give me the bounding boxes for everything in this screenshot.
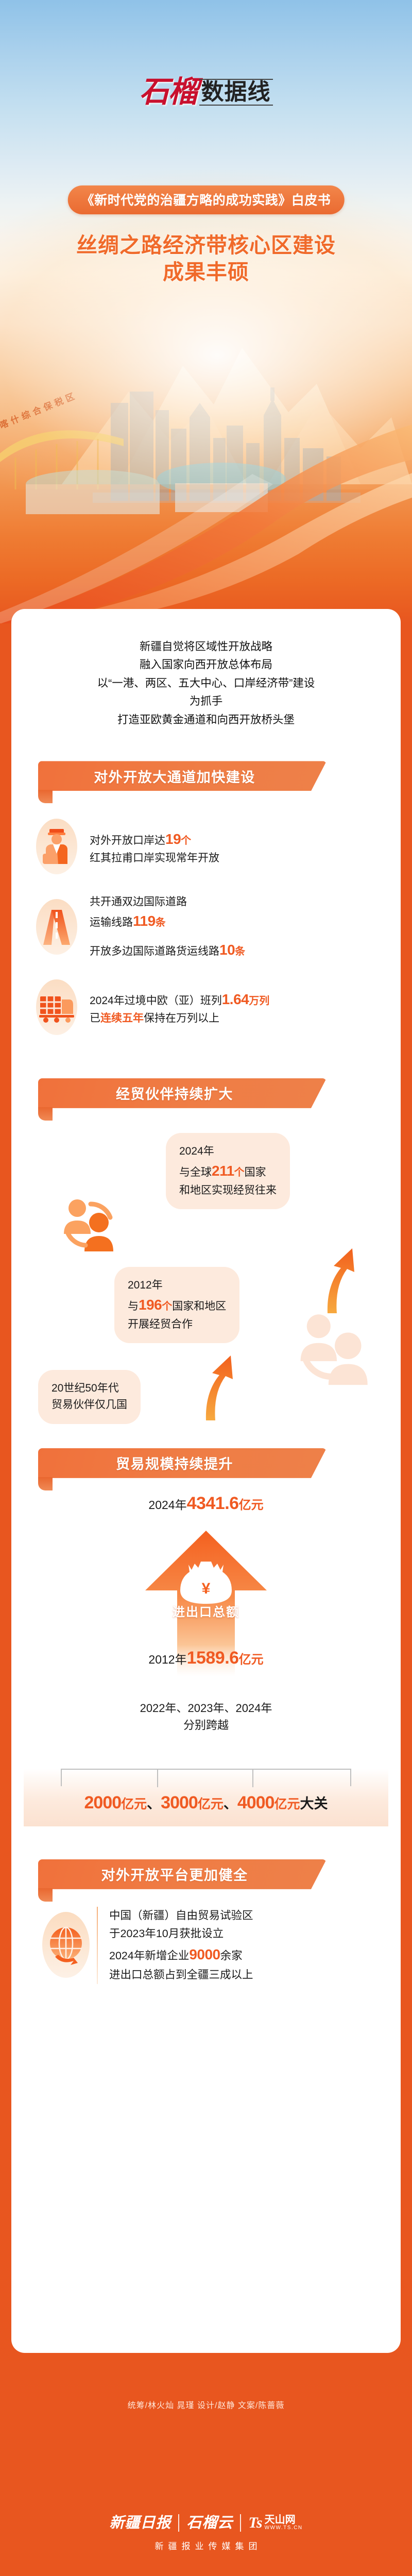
xinjiang-daily-logo: 新疆日报 [109, 2516, 171, 2531]
page-title-line1: 丝绸之路经济带核心区建设 [76, 233, 336, 257]
bubble-2024-unit: 个 [234, 1167, 245, 1178]
media-group-name: 新疆报业传媒集团 [0, 2539, 412, 2552]
trade-2024-value: 4341.6 [187, 1494, 239, 1513]
credits-line: 统筹/林火灿 晁瑾 设计/赵静 文案/陈蔷薇 [0, 2398, 412, 2411]
section-heading-partners: 经贸伙伴持续扩大 [38, 1078, 327, 1108]
section-heading-platform: 对外开放平台更加健全 [38, 1859, 327, 1889]
roads-line1: 共开通双边国际道路 [90, 894, 383, 910]
trains-unit: 万列 [249, 995, 269, 1007]
platform-new-firms-value: 9000 [189, 1946, 220, 1962]
milestone-values: 2000亿元、3000亿元、4000亿元大关 [24, 1786, 388, 1813]
milestone-block: 2000亿元、3000亿元、4000亿元大关 [24, 1769, 388, 1826]
milestone-sep-1: 、 [147, 1796, 161, 1811]
bubble-2024-post: 国家 [245, 1166, 266, 1178]
stat-row-trains: 2024年过境中欧（亚）班列1.64万列 已连续五年保持在万列以上 [11, 969, 401, 1046]
trains-note-highlight: 连续五年 [100, 1012, 144, 1024]
section-heading-text: 对外开放平台更加健全 [38, 1859, 311, 1889]
banner-tail [38, 1888, 53, 1902]
section-heading-text: 贸易规模持续提升 [38, 1448, 311, 1478]
milestone-2-unit: 亿元 [198, 1797, 224, 1811]
import-export-total-label: 进出口总额 [173, 1602, 239, 1620]
platform-line-4: 进出口总额占到全疆三成以上 [109, 1966, 385, 1984]
trains-value: 1.64 [222, 991, 249, 1007]
trade-2024-year: 2024年 [148, 1498, 186, 1512]
intro-line-5: 打造亚欧黄金通道和向西开放桥头堡 [32, 711, 380, 729]
trade-2024-unit: 亿元 [239, 1498, 264, 1512]
section-heading-text: 经贸伙伴持续扩大 [38, 1078, 311, 1108]
ports-note: 红其拉甫口岸实现常年开放 [90, 850, 383, 867]
highway-icon [33, 897, 80, 958]
platform-text: 中国（新疆）自由贸易试验区 于2023年10月获批设立 2024年新增企业900… [109, 1907, 385, 1984]
ports-label: 对外开放口岸达 [90, 835, 165, 846]
bubble-2012-post: 国家和地区 [172, 1300, 226, 1312]
hero-banner: 喀什综合保税区 石榴数据线 《新时代党的治疆方略的成功实践》白皮书 丝绸之路经济… [0, 0, 412, 623]
bubble-2024-tail: 和地区实现经贸往来 [179, 1182, 277, 1199]
roads-line2-label: 运输线路 [90, 917, 133, 928]
milestone-bracket [61, 1769, 351, 1786]
stat-text-ports: 对外开放口岸达19个 红其拉甫口岸实现常年开放 [90, 828, 383, 867]
trains-label: 2024年过境中欧（亚）班列 [90, 995, 222, 1007]
partners-people-ghost-icon [294, 1308, 376, 1391]
milestone-3-unit: 亿元 [274, 1797, 300, 1811]
page-title-line2: 成果丰硕 [0, 259, 412, 285]
bubble-2024-year: 2024年 [179, 1143, 277, 1160]
ports-unit: 个 [181, 835, 191, 846]
globe-trade-icon [38, 1907, 94, 1984]
trade-scale-block: 2024年4341.6亿元 ¥ 进出口总额 2012年1589.6亿元 2022… [11, 1478, 401, 1767]
intro-line-1: 新疆自觉将区域性开放战略 [32, 638, 380, 656]
bubble-2012-tail: 开展经贸合作 [128, 1316, 226, 1333]
intro-line-4: 为抓手 [32, 692, 380, 710]
platform-divider [97, 1907, 98, 1984]
milestone-1-value: 2000 [84, 1793, 122, 1812]
bubble-2024: 2024年 与全球211个国家 和地区实现经贸往来 [166, 1133, 290, 1209]
section-heading-corridor: 对外开放大通道加快建设 [38, 761, 327, 791]
stat-text-trains: 2024年过境中欧（亚）班列1.64万列 已连续五年保持在万列以上 [90, 989, 383, 1027]
footer-logos: 新疆日报 石榴云 Ts 天山网 WWW.TS.CN 新疆报业传媒集团 [0, 2514, 412, 2552]
bubble-2024-value: 211 [212, 1163, 234, 1179]
trade-2012-unit: 亿元 [239, 1653, 264, 1667]
logo-sub-text: 数据线 [199, 79, 273, 106]
bubble-2012-pre: 与 [128, 1300, 139, 1312]
milestone-suffix: 大关 [300, 1796, 328, 1811]
milestone-1-unit: 亿元 [121, 1797, 147, 1811]
stat-row-roads: 共开通双边国际道路 运输线路119条 开放多边国际道路货运线路10条 [11, 886, 401, 969]
platform-line-1: 中国（新疆）自由贸易试验区 [109, 1907, 385, 1925]
platform-block: 中国（新疆）自由贸易试验区 于2023年10月获批设立 2024年新增企业900… [11, 1889, 401, 2005]
intro-block: 新疆自觉将区域性开放战略 融入国家向西开放总体布局 以“一港、两区、五大中心、口… [11, 609, 401, 734]
trade-2012-year: 2012年 [148, 1653, 186, 1666]
bubble-2012-unit: 个 [162, 1301, 172, 1312]
bubble-2012-value: 196 [139, 1297, 162, 1313]
stat-text-roads: 共开通双边国际道路 运输线路119条 开放多边国际道路货运线路10条 [90, 894, 383, 961]
tianshan-mark: Ts [248, 2514, 262, 2532]
roads-unit: 条 [156, 917, 166, 928]
tianshan-name: 天山网 [265, 2515, 296, 2526]
logo-separator [240, 2514, 241, 2532]
bubble-2012: 2012年 与196个国家和地区 开展经贸合作 [114, 1267, 239, 1343]
page-title: 丝绸之路经济带核心区建设 成果丰硕 [0, 232, 412, 286]
corridor-stat-list: 对外开放口岸达19个 红其拉甫口岸实现常年开放 [11, 791, 401, 1052]
bubble-1950s-era: 20世纪50年代 [51, 1380, 127, 1397]
intro-line-2: 融入国家向西开放总体布局 [32, 656, 380, 674]
content-panel: 新疆自觉将区域性开放战略 融入国家向西开放总体布局 以“一港、两区、五大中心、口… [11, 609, 401, 2353]
milestone-2-value: 3000 [161, 1793, 198, 1812]
milestone-3-value: 4000 [237, 1793, 274, 1812]
trade-2012-value: 1589.6 [187, 1648, 239, 1668]
whitepaper-ribbon-title: 《新时代党的治疆方略的成功实践》白皮书 [68, 185, 345, 214]
tianshan-net-logo: Ts 天山网 WWW.TS.CN [248, 2514, 302, 2532]
partners-people-icon [59, 1195, 119, 1256]
growth-arrow-icon [202, 1354, 238, 1421]
section-heading-text: 对外开放大通道加快建设 [38, 761, 311, 791]
multilateral-label: 开放多边国际道路货运线路 [90, 945, 219, 957]
platform-line-3-post: 余家 [220, 1950, 243, 1962]
trains-note-tail: 保持在万列以上 [144, 1012, 219, 1024]
platform-line-3-pre: 2024年新增企业 [109, 1950, 189, 1962]
bubble-1950s-note: 贸易伙伴仅几国 [51, 1397, 127, 1414]
ports-value: 19 [165, 831, 181, 847]
multilateral-unit: 条 [235, 946, 245, 957]
growth-arrow-icon [323, 1247, 359, 1314]
crossing-note-line1: 2022年、2023年、2024年 [11, 1700, 401, 1717]
bubble-2012-year: 2012年 [128, 1277, 226, 1294]
milestone-sep-2: 、 [224, 1796, 237, 1811]
intro-line-3: 以“一港、两区、五大中心、口岸经济带”建设 [32, 674, 380, 692]
partners-staircase: 2024年 与全球211个国家 和地区实现经贸往来 2012年 与196个国家和… [11, 1112, 401, 1421]
silk-road-ribbon [0, 412, 412, 623]
crossing-note-line2: 分别跨越 [11, 1717, 401, 1734]
svg-text:¥: ¥ [202, 1580, 211, 1597]
customs-officer-icon [33, 817, 80, 877]
brand-logo: 石榴数据线 [0, 77, 412, 107]
platform-line-2: 于2023年10月获批设立 [109, 1925, 385, 1943]
trade-2012-line: 2012年1589.6亿元 [11, 1648, 401, 1668]
shiliuyun-logo: 石榴云 [186, 2516, 233, 2531]
crossing-note: 2022年、2023年、2024年 分别跨越 [11, 1700, 401, 1734]
stat-row-ports: 对外开放口岸达19个 红其拉甫口岸实现常年开放 [11, 808, 401, 886]
trains-note-pre: 已 [90, 1012, 100, 1024]
banner-tail [38, 790, 53, 803]
trade-2024-line: 2024年4341.6亿元 [11, 1494, 401, 1514]
multilateral-value: 10 [219, 942, 235, 958]
bubble-2024-pre: 与全球 [179, 1166, 212, 1178]
roads-value: 119 [133, 913, 156, 929]
bubble-1950s: 20世纪50年代 贸易伙伴仅几国 [38, 1370, 141, 1424]
logo-script-text: 石榴 [139, 77, 197, 107]
freight-train-icon [33, 977, 80, 1038]
logo-separator [178, 2514, 179, 2532]
tianshan-url: WWW.TS.CN [265, 2526, 303, 2531]
section-heading-trade-scale: 贸易规模持续提升 [38, 1448, 327, 1478]
